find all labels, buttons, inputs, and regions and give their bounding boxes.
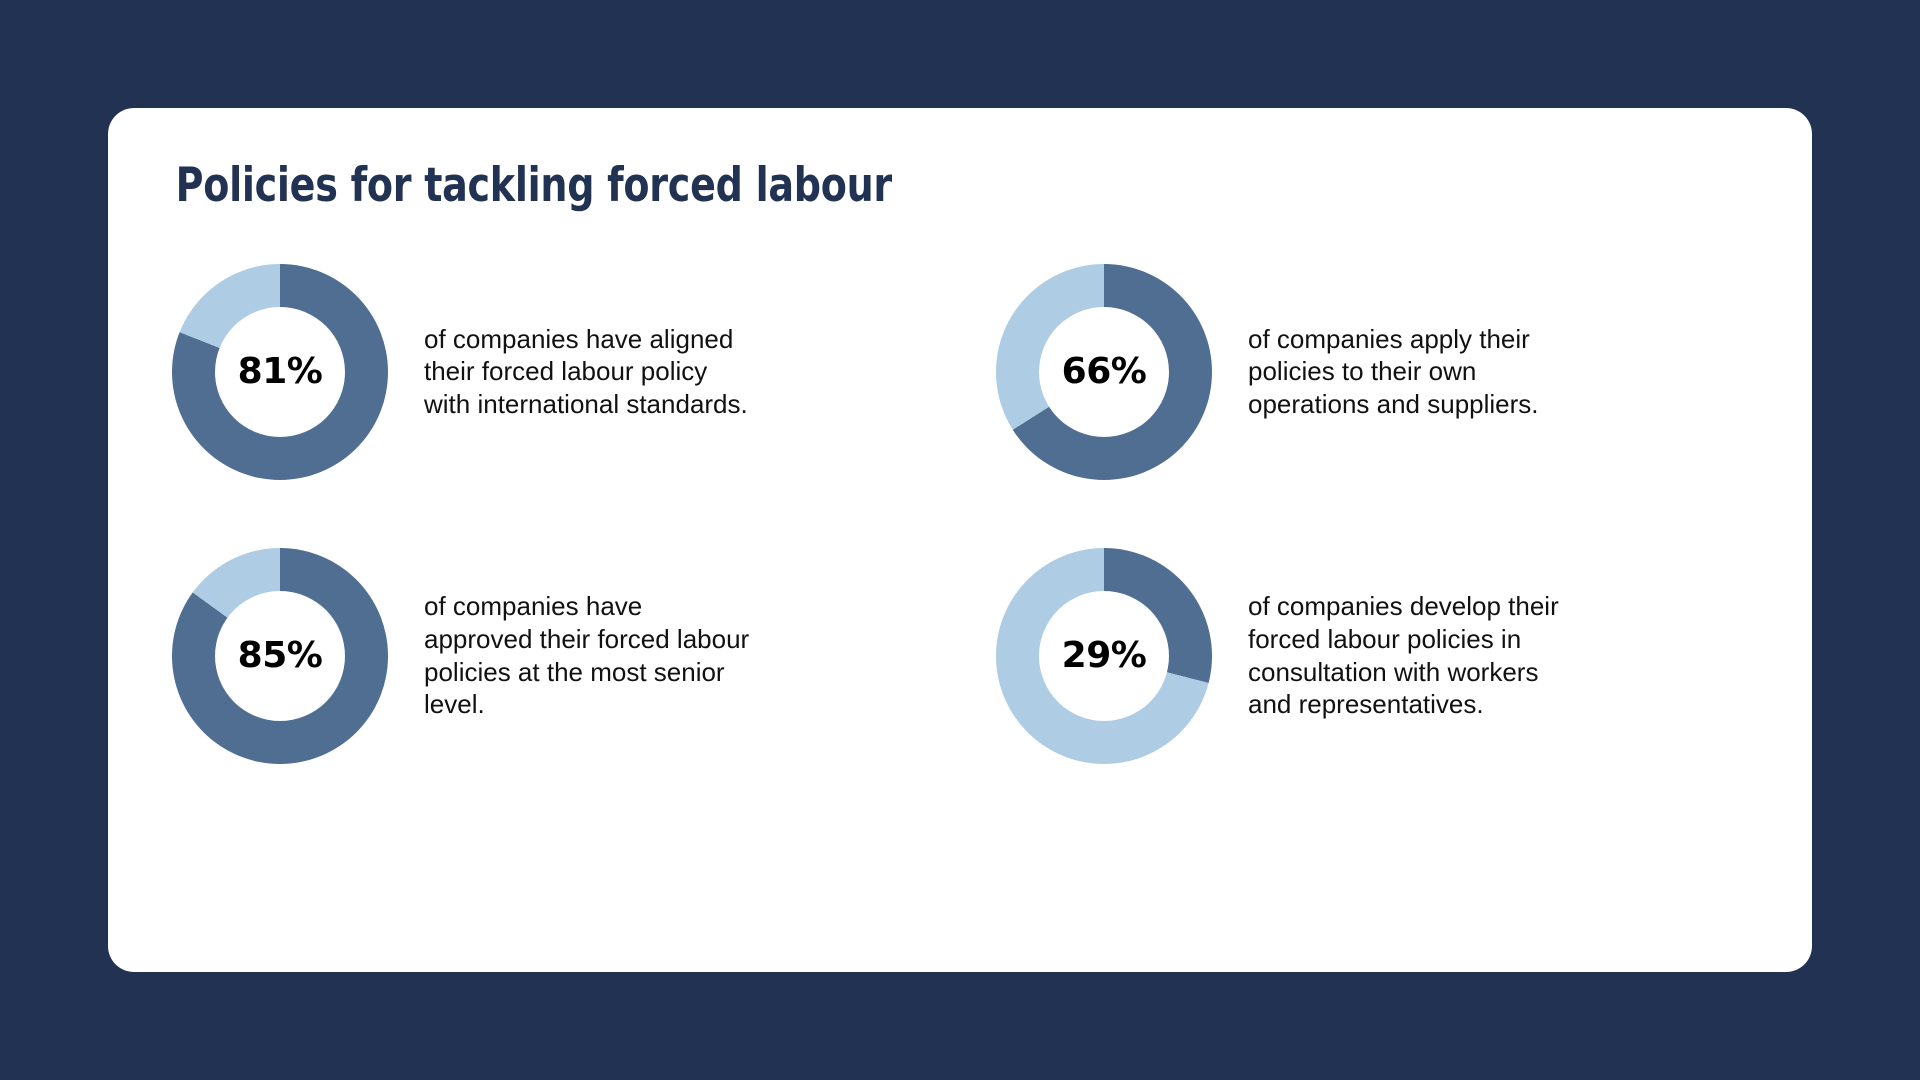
donut-hub-2: 85% [215,591,345,721]
donut-hub-1: 66% [1039,307,1169,437]
donut-chart-1: 66% [996,264,1212,480]
donut-value-2: 85% [238,638,323,674]
donut-chart-2: 85% [172,548,388,764]
stat-description-2: of companies have approved their forced … [424,590,754,721]
slide-root: Policies for tackling forced labour 81% … [0,0,1920,1080]
donut-value-0: 81% [238,354,323,390]
donut-hub-3: 29% [1039,591,1169,721]
donut-chart-0: 81% [172,264,388,480]
stat-item-2: 85% of companies have approved their for… [172,548,924,764]
stat-description-3: of companies develop their forced labour… [1248,590,1588,721]
donut-hub-0: 81% [215,307,345,437]
stats-grid: 81% of companies have aligned their forc… [172,264,1748,764]
stat-item-3: 29% of companies develop their forced la… [996,548,1748,764]
stat-item-0: 81% of companies have aligned their forc… [172,264,924,480]
donut-value-3: 29% [1062,638,1147,674]
stat-item-1: 66% of companies apply their policies to… [996,264,1748,480]
donut-ring-3: 29% [996,548,1212,764]
donut-ring-0: 81% [172,264,388,480]
stat-description-0: of companies have aligned their forced l… [424,323,754,421]
stat-description-1: of companies apply their policies to the… [1248,323,1588,421]
donut-ring-2: 85% [172,548,388,764]
page-title: Policies for tackling forced labour [172,160,1590,212]
content-card: Policies for tackling forced labour 81% … [108,108,1812,972]
donut-chart-3: 29% [996,548,1212,764]
donut-value-1: 66% [1062,354,1147,390]
donut-ring-1: 66% [996,264,1212,480]
